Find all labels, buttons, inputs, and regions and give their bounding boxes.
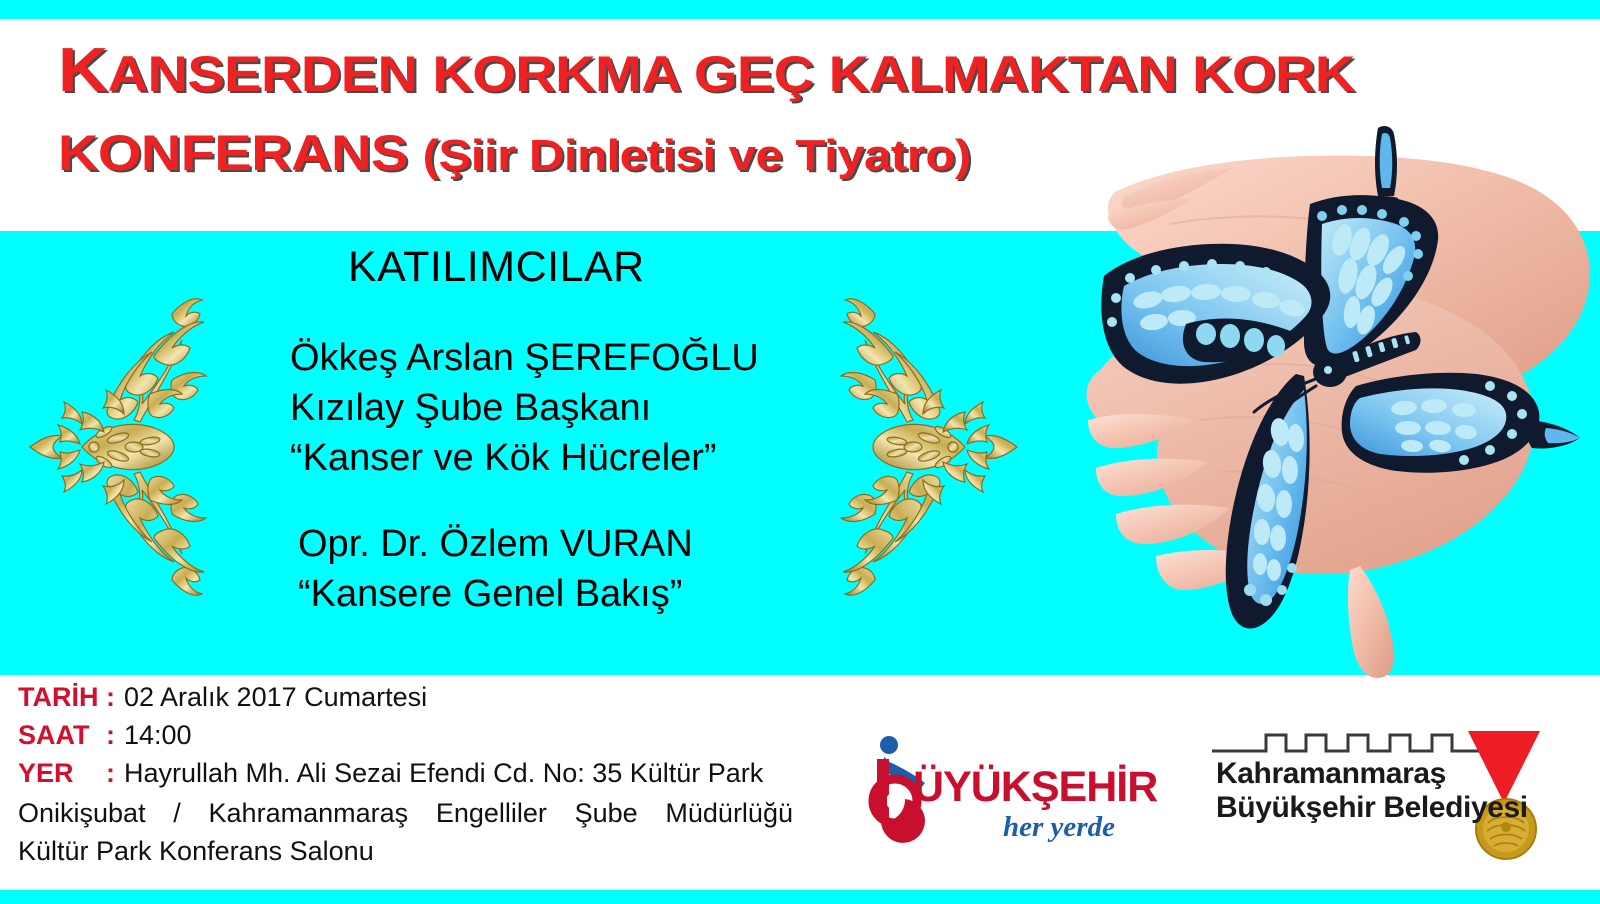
- address-word-0: Onikişubat: [18, 794, 146, 832]
- time-value: 14:00: [124, 716, 192, 754]
- bottom-cyan-band: [0, 890, 1600, 904]
- title-drop-cap: K: [58, 36, 108, 105]
- kahramanmaras-line-2: Büyükşehir Belediyesi: [1216, 791, 1528, 825]
- address-word-5: Müdürlüğü: [665, 794, 793, 832]
- address-word-1: /: [173, 794, 181, 832]
- address-continuation: Onikişubat / Kahramanmaraş Engelliler Şu…: [18, 794, 798, 870]
- date-colon: :: [106, 678, 124, 716]
- poster-title: KANSERDEN KORKMA GEÇ KALMAKTAN KORK KONF…: [58, 38, 1098, 188]
- event-details: TARİH : 02 Aralık 2017 Cumartesi SAAT : …: [18, 678, 808, 870]
- title-line-2: KONFERANS (Şiir Dinletisi ve Tiyatro): [58, 121, 1223, 188]
- title-line-2-subtitle: (Şiir Dinletisi ve Tiyatro): [423, 131, 971, 180]
- address-word-2: Kahramanmaraş: [209, 794, 409, 832]
- speaker-2: Opr. Dr. Özlem VURAN “Kansere Genel Bakı…: [290, 519, 810, 619]
- poster-canvas: KANSERDEN KORKMA GEÇ KALMAKTAN KORK KONF…: [0, 0, 1600, 904]
- title-line-1-text: ANSERDEN KORKMA GEÇ KALMAKTAN KORK: [108, 46, 1355, 102]
- address-line-3: Kültür Park Konferans Salonu: [18, 832, 798, 870]
- speaker-2-name: Opr. Dr. Özlem VURAN: [290, 519, 810, 569]
- speakers-list: Ökkeş Arslan ŞEREFOĞLU Kızılay Şube Başk…: [290, 333, 810, 655]
- speaker-1-topic: “Kanser ve Kök Hücreler”: [290, 433, 810, 483]
- time-row: SAAT : 14:00: [18, 716, 808, 754]
- address-line-2: Onikişubat / Kahramanmaraş Engelliler Şu…: [18, 794, 793, 832]
- kahramanmaras-wordmark: Kahramanmaraş Büyükşehir Belediyesi: [1216, 757, 1528, 825]
- date-value: 02 Aralık 2017 Cumartesi: [124, 678, 427, 716]
- address-word-4: Şube: [575, 794, 638, 832]
- speaker-1: Ökkeş Arslan ŞEREFOĞLU Kızılay Şube Başk…: [290, 333, 810, 483]
- place-row: YER : Hayrullah Mh. Ali Sezai Efendi Cd.…: [18, 754, 808, 792]
- title-line-2-main: KONFERANS: [58, 125, 423, 181]
- buyuksehir-slogan: her yerde: [1003, 811, 1115, 844]
- place-colon: :: [106, 754, 124, 792]
- date-label: TARİH: [18, 678, 106, 716]
- ottoman-ornament-right-icon: [795, 262, 1025, 632]
- speaker-2-topic: “Kansere Genel Bakış”: [290, 569, 810, 619]
- kahramanmaras-belediyesi-logo: Kahramanmaraş Büyükşehir Belediyesi: [1210, 705, 1570, 865]
- speaker-1-role: Kızılay Şube Başkanı: [290, 383, 810, 433]
- date-row: TARİH : 02 Aralık 2017 Cumartesi: [18, 678, 808, 716]
- kahramanmaras-line-1: Kahramanmaraş: [1216, 757, 1528, 791]
- address-word-3: Engelliler: [436, 794, 547, 832]
- speaker-1-name: Ökkeş Arslan ŞEREFOĞLU: [290, 333, 810, 383]
- place-label: YER: [18, 754, 106, 792]
- buyuksehir-her-yerde-logo: ÜYÜKŞEHİR her yerde: [855, 725, 1145, 850]
- butterfly-in-hands-artwork: [1060, 120, 1600, 680]
- buyuksehir-wordmark: ÜYÜKŞEHİR: [913, 763, 1157, 812]
- top-cyan-band: [0, 0, 1600, 19]
- title-line-1: KANSERDEN KORKMA GEÇ KALMAKTAN KORK: [58, 38, 1223, 107]
- time-label: SAAT: [18, 716, 106, 754]
- ottoman-ornament-left-icon: [22, 262, 252, 632]
- participants-heading: KATILIMCILAR: [348, 243, 645, 292]
- time-colon: :: [106, 716, 124, 754]
- place-value: Hayrullah Mh. Ali Sezai Efendi Cd. No: 3…: [124, 754, 763, 792]
